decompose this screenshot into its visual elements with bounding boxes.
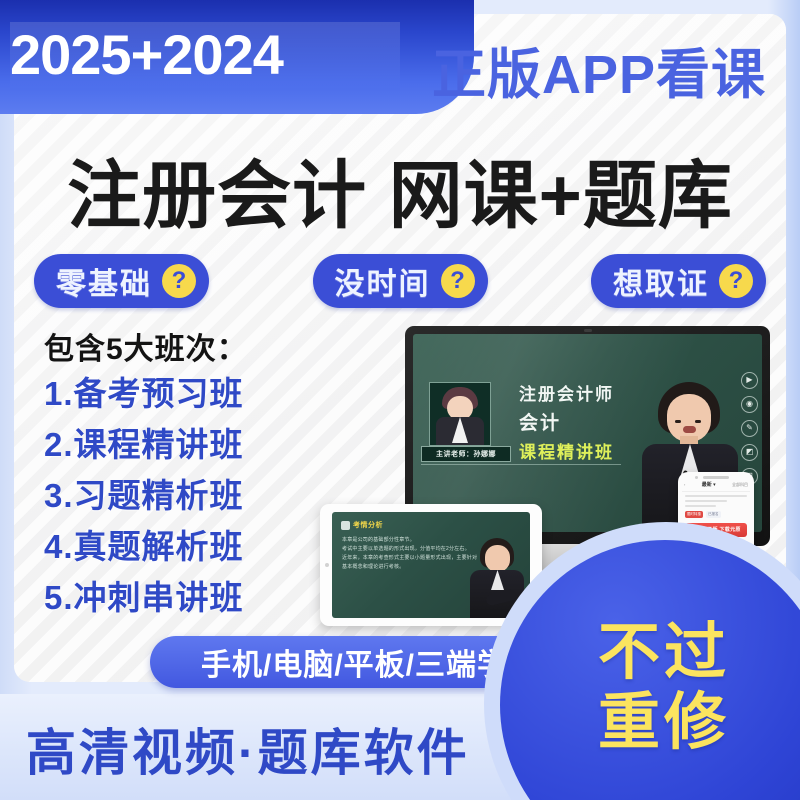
player-control-bar[interactable]: ▶ ◉ ✎ ◩ ⊟ — [741, 372, 758, 485]
teacher-eye-right — [695, 420, 701, 423]
guarantee-line-1: 不过 — [554, 618, 774, 688]
phone-text-line — [685, 500, 727, 502]
board-divider — [421, 464, 621, 465]
tablet-text-line: 本章是公司的基础部分性章节。 — [342, 536, 460, 545]
record-icon[interactable]: ◉ — [741, 396, 758, 413]
tablet-text-line: 基本概念和理论进行考核。 — [342, 563, 460, 572]
tablet-camera-icon — [325, 563, 329, 567]
question-mark-icon: ? — [719, 264, 753, 298]
teacher-avatar-illustration — [429, 382, 491, 446]
guarantee-text-block: 不过 重修 — [554, 618, 774, 758]
footer-slogan: 高清视频·题库软件 — [26, 724, 470, 782]
teacher-eye-left — [675, 420, 681, 423]
class-list-heading: 包含5大班次： — [44, 324, 248, 368]
board-subject: 会计 — [519, 408, 561, 435]
guarantee-line-2: 重修 — [554, 688, 774, 758]
tablet-section-label: 考情分析 — [353, 520, 383, 530]
phone-camera-icon — [695, 476, 698, 479]
tablet-text-line: 考试中主要以单选题的形式出现，分值平均在2分左右。 — [342, 545, 460, 554]
layout-icon[interactable]: ◩ — [741, 444, 758, 461]
pencil-icon[interactable]: ✎ — [741, 420, 758, 437]
phone-nav-title[interactable]: 最新 ▾ — [702, 481, 716, 488]
tablet-section-badge: 考情分析 — [341, 520, 383, 530]
class-list-item: 2.课程精讲班 — [44, 419, 244, 470]
webcam-icon — [584, 329, 592, 332]
teacher-name-label: 主讲老师：孙娜娜 — [421, 446, 511, 462]
pill-label: 想取证 — [613, 259, 709, 303]
tablet-body-text: 本章是公司的基础部分性章节。 考试中主要以单选题的形式出现，分值平均在2分左右。… — [342, 536, 460, 572]
pill-label: 没时间 — [335, 259, 431, 303]
phone-text-line — [685, 495, 747, 497]
phone-tag-enrolled: 已报名 — [706, 511, 721, 518]
class-list-item: 4.真题解析班 — [44, 521, 244, 572]
tablet-device: 考情分析 本章是公司的基础部分性章节。 考试中主要以单选题的形式出现，分值平均在… — [320, 504, 542, 626]
class-list-item: 5.冲刺串讲班 — [44, 572, 244, 623]
class-list: 1.备考预习班 2.课程精讲班 3.习题精析班 4.真题解析班 5.冲刺串讲班 — [44, 368, 244, 623]
question-mark-icon: ? — [162, 264, 196, 298]
question-mark-icon: ? — [441, 264, 475, 298]
pill-label: 零基础 — [56, 259, 152, 303]
class-list-item: 3.习题精析班 — [44, 470, 244, 521]
phone-nav-bar[interactable]: ‹ 最新 ▾ 全部科目 — [682, 481, 750, 492]
tablet-text-line: 近年来，本章的考查形式主要以小题量形式出现，主要针对 — [342, 554, 460, 563]
back-icon[interactable]: ‹ — [684, 482, 685, 487]
teacher-name-text: 主讲老师：孙娜娜 — [436, 449, 496, 459]
board-course-title: 注册会计师 — [519, 380, 614, 405]
phone-nav-right[interactable]: 全部科目 — [732, 482, 748, 488]
phone-text-line — [685, 505, 716, 507]
teacher-face — [667, 394, 711, 442]
board-class-type: 课程精讲班 — [519, 438, 614, 463]
tablet-teacher-face — [485, 545, 510, 572]
benefit-pill-row: 零基础 ? 没时间 ? 想取证 ? — [34, 254, 766, 308]
tablet-screen: 考情分析 本章是公司的基础部分性章节。 考试中主要以单选题的形式出现，分值平均在… — [332, 512, 530, 618]
app-tagline: 正版APP看课 — [330, 34, 782, 116]
play-icon[interactable]: ▶ — [741, 372, 758, 389]
phone-tag-row: 限时特惠 已报名 — [685, 511, 747, 518]
phone-tag-sale: 限时特惠 — [685, 511, 703, 518]
class-list-item: 1.备考预习班 — [44, 368, 244, 419]
pill-want-certificate[interactable]: 想取证 ? — [591, 254, 766, 308]
page-title: 注册会计 网课+题库 — [0, 148, 800, 244]
book-icon — [341, 521, 350, 530]
teacher-mouth — [683, 426, 696, 433]
phone-speaker-icon — [703, 476, 729, 479]
poster-root: 2025+2024 正版APP看课 注册会计 网课+题库 零基础 ? 没时间 ?… — [0, 0, 800, 800]
pill-no-time[interactable]: 没时间 ? — [313, 254, 488, 308]
pill-zero-basis[interactable]: 零基础 ? — [34, 254, 209, 308]
